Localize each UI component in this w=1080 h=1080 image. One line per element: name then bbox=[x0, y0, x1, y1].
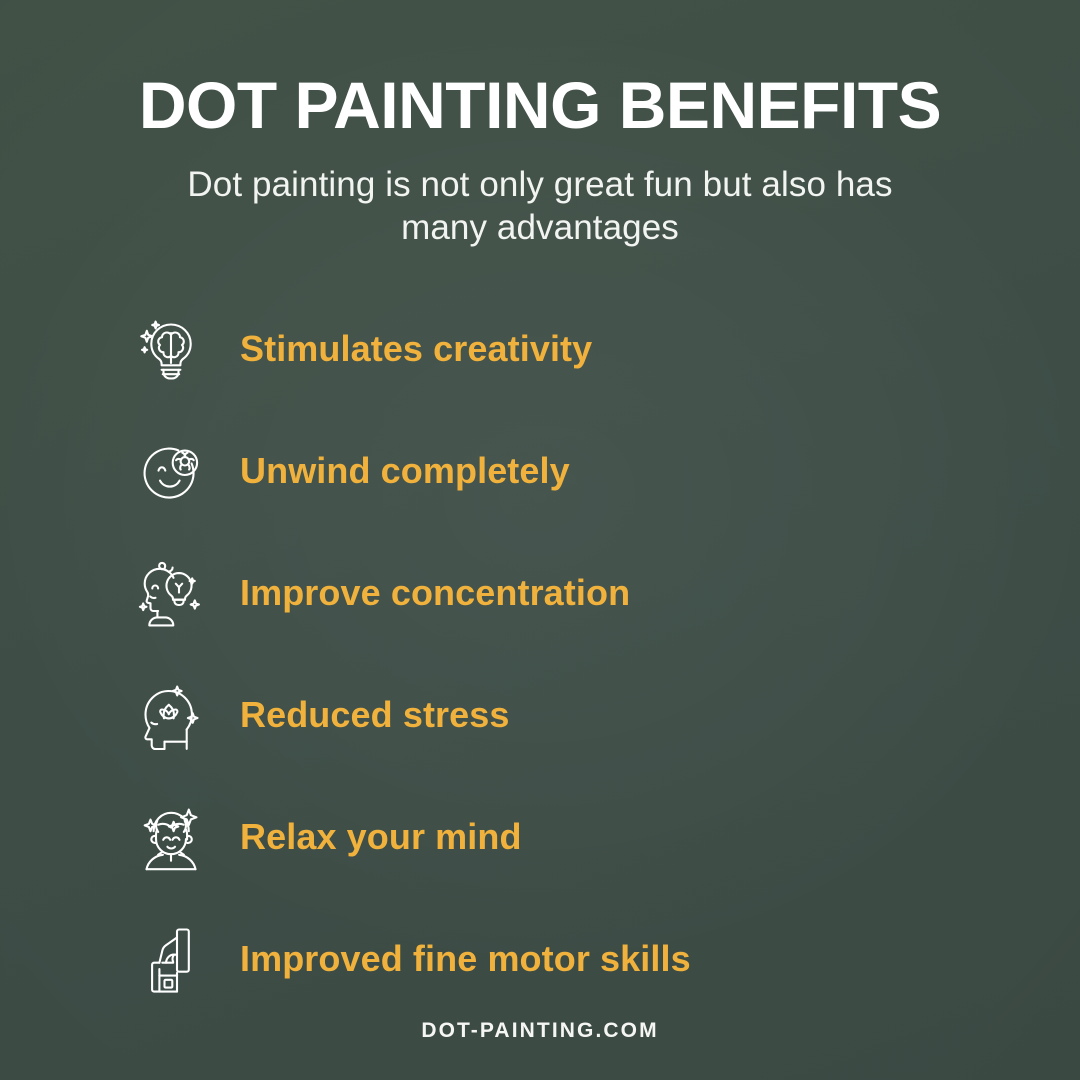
benefit-label: Improved fine motor skills bbox=[240, 938, 691, 980]
list-item: Stimulates creativity bbox=[133, 288, 1020, 410]
list-item: Unwind completely bbox=[133, 410, 1020, 532]
page-subtitle: Dot painting is not only great fun but a… bbox=[145, 164, 935, 249]
header: DOT PAINTING BENEFITS Dot painting is no… bbox=[0, 72, 1080, 249]
list-item: Improved fine motor skills bbox=[133, 898, 1020, 1020]
list-item: Reduced stress bbox=[133, 654, 1020, 776]
smiling-face-flower-icon bbox=[133, 425, 219, 517]
list-item: Improve concentration bbox=[133, 532, 1020, 654]
list-item: Relax your mind bbox=[133, 776, 1020, 898]
poster-canvas: DOT PAINTING BENEFITS Dot painting is no… bbox=[0, 0, 1080, 1080]
lightbulb-brain-icon bbox=[133, 303, 219, 395]
hand-holding-object-icon bbox=[133, 913, 219, 1005]
page-title: DOT PAINTING BENEFITS bbox=[70, 72, 1010, 138]
benefit-label: Relax your mind bbox=[240, 816, 522, 858]
benefit-label: Reduced stress bbox=[240, 694, 510, 736]
footer-website-text: DOT-PAINTING.COM bbox=[421, 1019, 658, 1042]
footer: DOT-PAINTING.COM bbox=[0, 1019, 1080, 1043]
relaxed-face-sparkles-icon bbox=[133, 791, 219, 883]
benefit-label: Unwind completely bbox=[240, 450, 570, 492]
head-profile-lotus-icon bbox=[133, 669, 219, 761]
benefit-label: Improve concentration bbox=[240, 572, 630, 614]
head-profile-lightbulb-icon bbox=[133, 547, 219, 639]
benefits-list: Stimulates creativity bbox=[133, 288, 1020, 1020]
benefit-label: Stimulates creativity bbox=[240, 328, 592, 370]
